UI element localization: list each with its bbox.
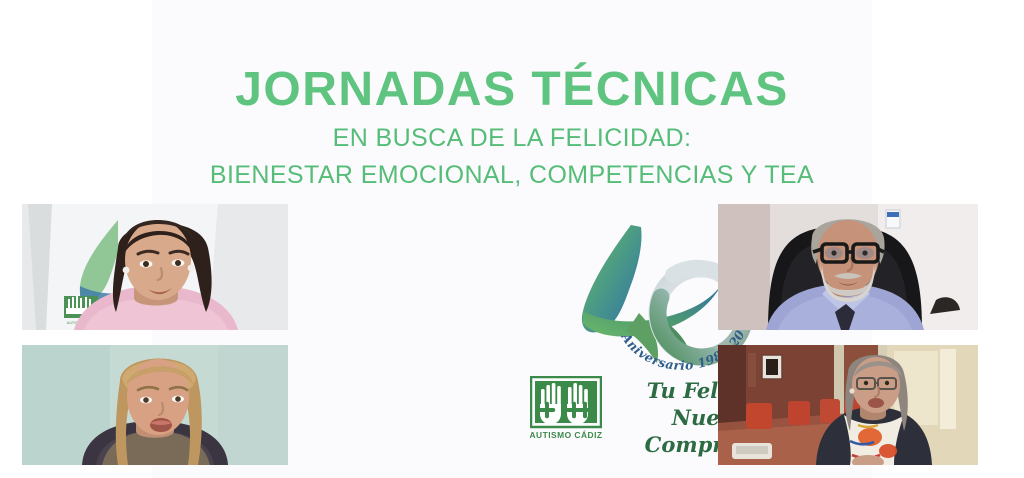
participant-video-tile-bottom-left[interactable] [22,345,288,465]
slide-subtitle-line-1: EN BUSCA DE LA FELICIDAD: [152,124,872,153]
autismo-cadiz-logo: AUTISMO CÁDIZ [530,376,602,442]
participant-video-feed: AUTISMO CÁDIZ T r [22,204,288,330]
org-logo-label: AUTISMO CÁDIZ [530,429,602,440]
participant-video-feed [718,345,978,465]
participant-video-feed [718,204,978,330]
participant-video-tile-bottom-right[interactable] [718,345,978,465]
video-conference-stage: JORNADAS TÉCNICAS EN BUSCA DE LA FELICID… [0,0,1024,478]
slide-title: JORNADAS TÉCNICAS [152,62,872,117]
participant-video-feed [22,345,288,465]
slide-subtitle-line-2: BIENESTAR EMOCIONAL, COMPETENCIAS Y TEA [152,161,872,190]
participant-video-tile-top-right[interactable] [718,204,978,330]
participant-video-tile-top-left[interactable]: AUTISMO CÁDIZ T r [22,204,288,330]
